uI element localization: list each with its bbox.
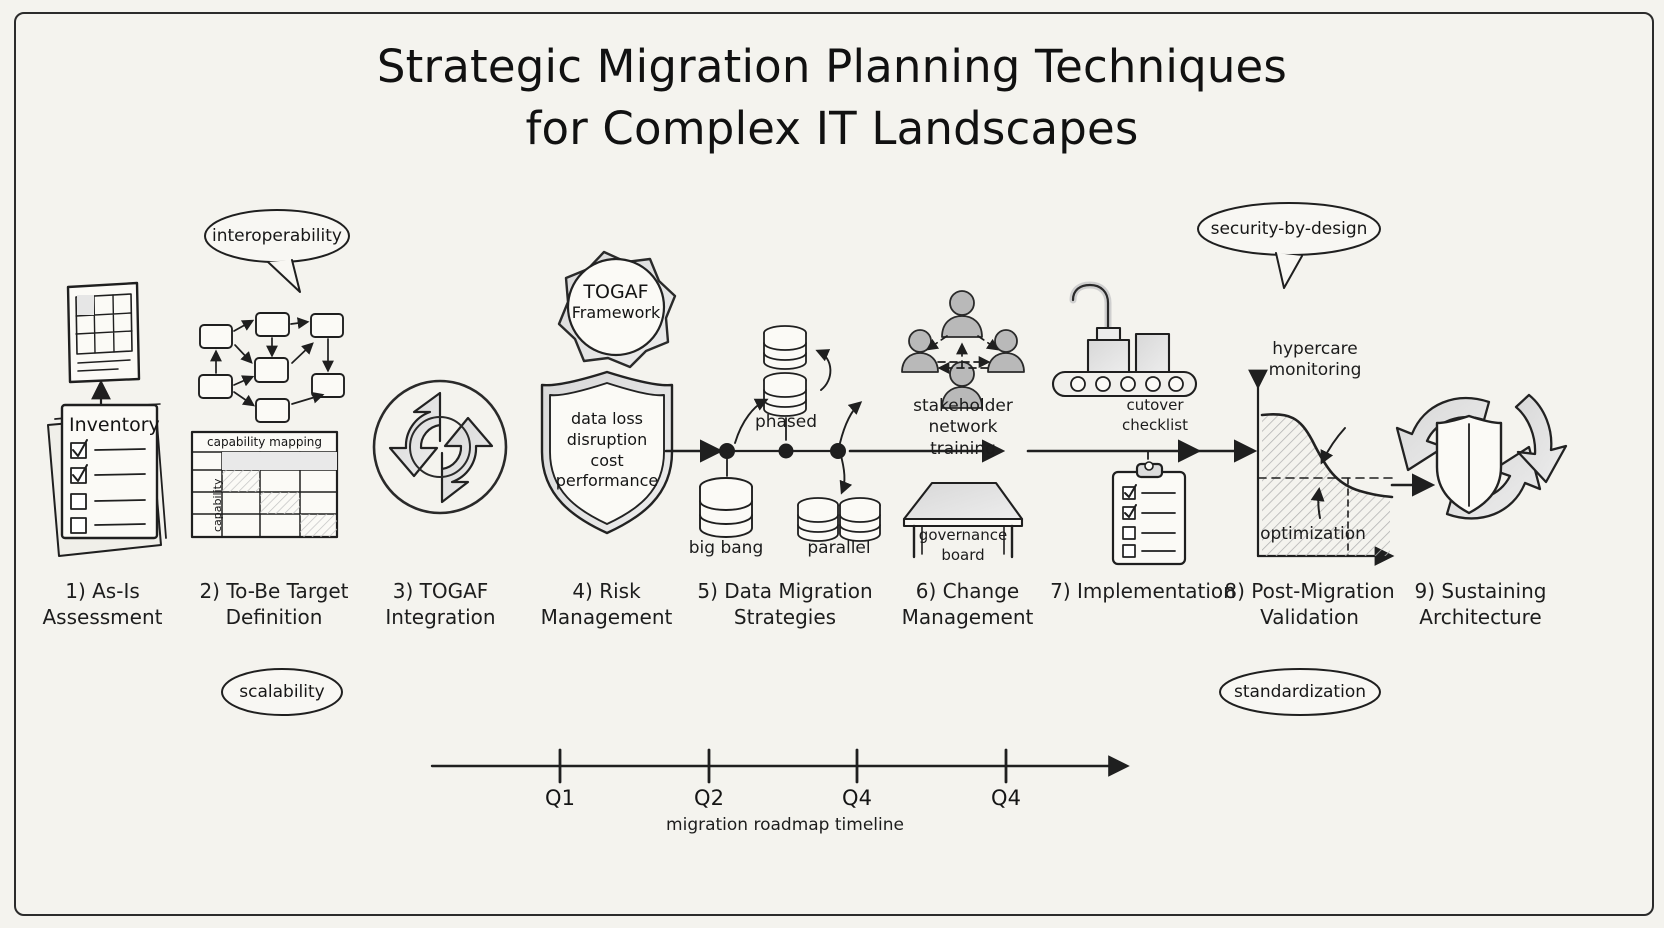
risk-item-1: disruption xyxy=(546,430,668,451)
governance-line-1: board xyxy=(908,546,1018,566)
timeline-caption: migration roadmap timeline xyxy=(620,815,950,835)
stage-9-line-1: 9) Sustaining xyxy=(1393,578,1568,604)
stage-4-line-2: Management xyxy=(524,604,689,630)
big-bang-label: big bang xyxy=(666,538,786,559)
stage-6-line-1: 6) Change xyxy=(885,578,1050,604)
stage-caption-4: 4) Risk Management xyxy=(524,578,689,631)
stage-8-line-1: 8) Post-Migration xyxy=(1222,578,1397,604)
stage-caption-9: 9) Sustaining Architecture xyxy=(1393,578,1568,631)
timeline-tick-label-2: Q4 xyxy=(817,786,897,810)
hypercare-line-1: monitoring xyxy=(1240,360,1390,381)
hypercare-monitoring-label: hypercare monitoring xyxy=(1240,339,1390,382)
callout-label-standardization: standardization xyxy=(1210,682,1390,702)
stage-1-line-2: Assessment xyxy=(20,604,185,630)
phased-label: phased xyxy=(726,412,846,433)
stage-caption-6: 6) Change Management xyxy=(885,578,1050,631)
governance-board-label: governance board xyxy=(908,526,1018,565)
callout-label-scalability: scalability xyxy=(212,682,352,702)
title-line-1: Strategic Migration Planning Techniques xyxy=(0,36,1664,98)
togaf-badge-label: TOGAF Framework xyxy=(566,281,666,322)
stakeholder-line-1: network xyxy=(893,417,1033,438)
inventory-label: Inventory xyxy=(69,414,160,436)
stage-3-line-1: 3) TOGAF xyxy=(358,578,523,604)
stage-5-line-1: 5) Data Migration xyxy=(690,578,880,604)
stage-6-line-2: Management xyxy=(885,604,1050,630)
stage-caption-2: 2) To-Be Target Definition xyxy=(188,578,360,631)
timeline-tick-label-1: Q2 xyxy=(669,786,749,810)
governance-line-0: governance xyxy=(908,526,1018,546)
diagram-canvas: Strategic Migration Planning Techniques … xyxy=(0,0,1664,928)
stage-caption-3: 3) TOGAF Integration xyxy=(358,578,523,631)
stage-4-line-1: 4) Risk xyxy=(524,578,689,604)
stage-2-line-2: Definition xyxy=(188,604,360,630)
hypercare-line-0: hypercare xyxy=(1240,339,1390,360)
cutover-checklist-label: cutover checklist xyxy=(1097,396,1213,435)
stakeholder-line-2: training xyxy=(893,439,1033,460)
callout-label-interoperability: interoperability xyxy=(197,226,357,246)
timeline-tick-label-0: Q1 xyxy=(520,786,600,810)
risk-item-2: cost xyxy=(546,451,668,472)
cutover-line-1: checklist xyxy=(1097,416,1213,436)
page-title: Strategic Migration Planning Techniques … xyxy=(0,36,1664,160)
stage-1-line-1: 1) As-Is xyxy=(20,578,185,604)
stage-caption-8: 8) Post-Migration Validation xyxy=(1222,578,1397,631)
stakeholder-network-training-label: stakeholder network training xyxy=(893,396,1033,460)
risk-item-0: data loss xyxy=(546,409,668,430)
stage-2-line-1: 2) To-Be Target xyxy=(188,578,360,604)
stage-caption-5: 5) Data Migration Strategies xyxy=(690,578,880,631)
stage-8-line-2: Validation xyxy=(1222,604,1397,630)
risk-item-3: performance xyxy=(546,471,668,492)
stage-7-line-1: 7) Implementation xyxy=(1048,578,1238,604)
stage-5-line-2: Strategies xyxy=(690,604,880,630)
togaf-badge-line-1: TOGAF xyxy=(566,281,666,303)
capability-mapping-label: capability mapping xyxy=(192,435,337,449)
timeline-tick-label-3: Q4 xyxy=(966,786,1046,810)
stage-caption-7: 7) Implementation xyxy=(1048,578,1238,604)
parallel-label: parallel xyxy=(779,538,899,559)
risk-shield-labels: data loss disruption cost performance xyxy=(546,409,668,492)
capability-axis-label: capability xyxy=(211,479,224,533)
stakeholder-line-0: stakeholder xyxy=(893,396,1033,417)
stage-9-line-2: Architecture xyxy=(1393,604,1568,630)
optimization-label: optimization xyxy=(1243,524,1383,545)
callout-label-security-by-design: security-by-design xyxy=(1189,219,1389,239)
togaf-badge-line-2: Framework xyxy=(566,303,666,322)
stage-caption-1: 1) As-Is Assessment xyxy=(20,578,185,631)
stage-3-line-2: Integration xyxy=(358,604,523,630)
title-line-2: for Complex IT Landscapes xyxy=(0,98,1664,160)
cutover-line-0: cutover xyxy=(1097,396,1213,416)
